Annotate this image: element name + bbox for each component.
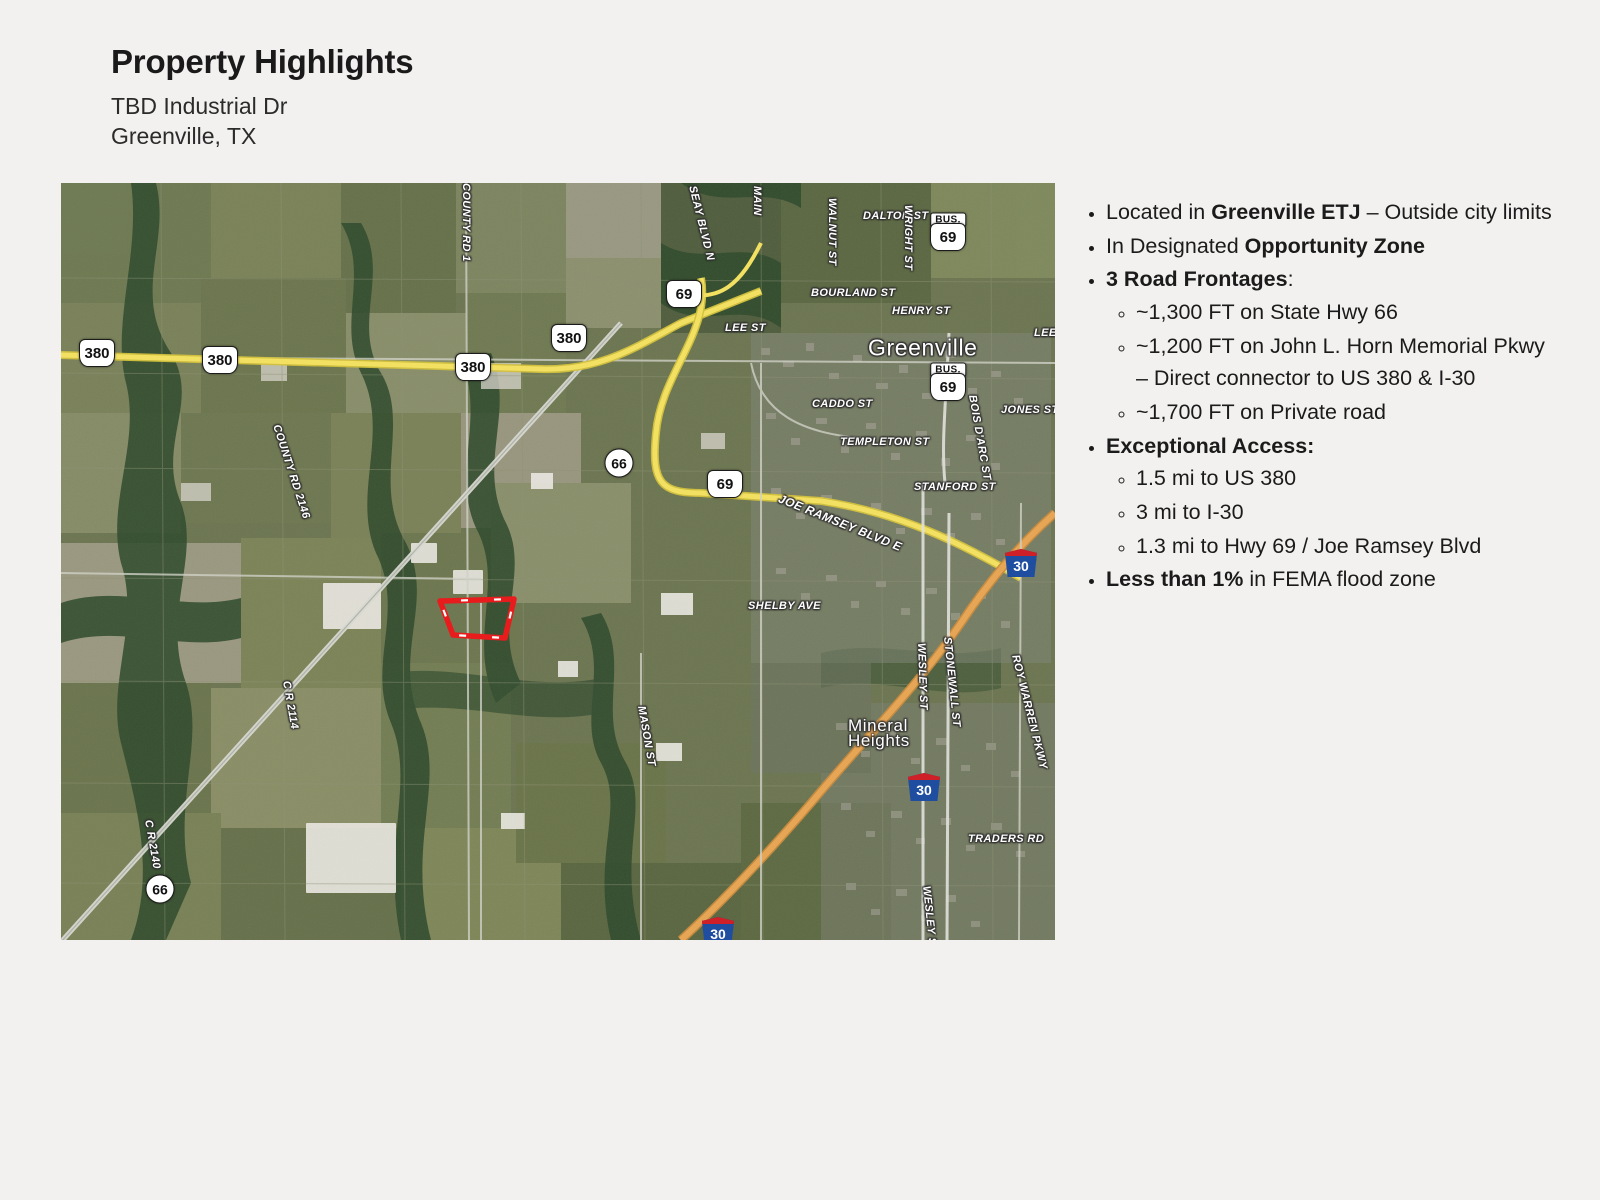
highway-shield-69-icon: 69 [930, 373, 966, 401]
aerial-map[interactable]: COUNTY RD 1COUNTY RD 2146SEAY BLVD NMAIN… [61, 183, 1055, 940]
highway-shield-66-icon: 66 [146, 875, 175, 904]
highway-shield-30-icon: 30 [1005, 549, 1037, 577]
map-imagery [61, 183, 1055, 940]
sub-bullet-exceptional-access-2: 1.3 mi to Hwy 69 / Joe Ramsey Blvd [1136, 530, 1558, 563]
bullet-exceptional-access: Exceptional Access:1.5 mi to US 3803 mi … [1106, 430, 1558, 563]
header-block: Property Highlights TBD Industrial Dr Gr… [111, 44, 413, 151]
highway-shield-380-icon: 380 [202, 346, 238, 374]
bullet-text: Located in [1106, 200, 1211, 224]
highway-shield-30-icon: 30 [908, 773, 940, 801]
bullet-flood-zone: Less than 1% in FEMA flood zone [1106, 563, 1558, 596]
sub-bullet-exceptional-access-1: 3 mi to I-30 [1136, 496, 1558, 529]
bullet-list: Located in Greenville ETJ – Outside city… [1078, 196, 1558, 596]
bullet-text: : [1288, 267, 1294, 291]
bullet-emphasis: Less than 1% [1106, 567, 1243, 591]
sub-bullet-exceptional-access-0: 1.5 mi to US 380 [1136, 462, 1558, 495]
page-title: Property Highlights [111, 44, 413, 80]
bullet-emphasis: 3 Road Frontages [1106, 267, 1288, 291]
sub-bullet-road-frontages-0: ~1,300 FT on State Hwy 66 [1136, 296, 1558, 329]
highway-shield-380-icon: 380 [455, 353, 491, 381]
property-address-line-2: Greenville, TX [111, 122, 413, 151]
highway-shield-380-icon: 380 [79, 339, 115, 367]
sub-bullet-road-frontages-1: ~1,200 FT on John L. Horn Memorial Pkwy … [1136, 330, 1558, 395]
bullet-etj: Located in Greenville ETJ – Outside city… [1106, 196, 1558, 229]
highway-shield-380-icon: 380 [551, 324, 587, 352]
bullet-road-frontages: 3 Road Frontages:~1,300 FT on State Hwy … [1106, 263, 1558, 428]
bullet-emphasis: Opportunity Zone [1245, 234, 1425, 258]
sub-bullet-road-frontages-2: ~1,700 FT on Private road [1136, 396, 1558, 429]
highway-shield-66-icon: 66 [605, 449, 634, 478]
highway-shield-69-icon: 69 [707, 470, 743, 498]
sub-list-exceptional-access: 1.5 mi to US 3803 mi to I-301.3 mi to Hw… [1106, 462, 1558, 562]
property-address-line-1: TBD Industrial Dr [111, 92, 413, 121]
sub-list-road-frontages: ~1,300 FT on State Hwy 66~1,200 FT on Jo… [1106, 296, 1558, 429]
bullet-text: in FEMA flood zone [1243, 567, 1435, 591]
highway-shield-69-icon: 69 [666, 280, 702, 308]
highway-shield-30-icon: 30 [702, 917, 734, 940]
highway-shield-69-icon: 69 [930, 223, 966, 251]
bullet-emphasis: Greenville ETJ [1211, 200, 1360, 224]
bullet-text: In Designated [1106, 234, 1245, 258]
bullet-text: – Outside city limits [1361, 200, 1552, 224]
bullet-opportunity-zone: In Designated Opportunity Zone [1106, 230, 1558, 263]
bullet-emphasis: Exceptional Access: [1106, 434, 1314, 458]
property-highlights-list: Located in Greenville ETJ – Outside city… [1078, 196, 1558, 597]
